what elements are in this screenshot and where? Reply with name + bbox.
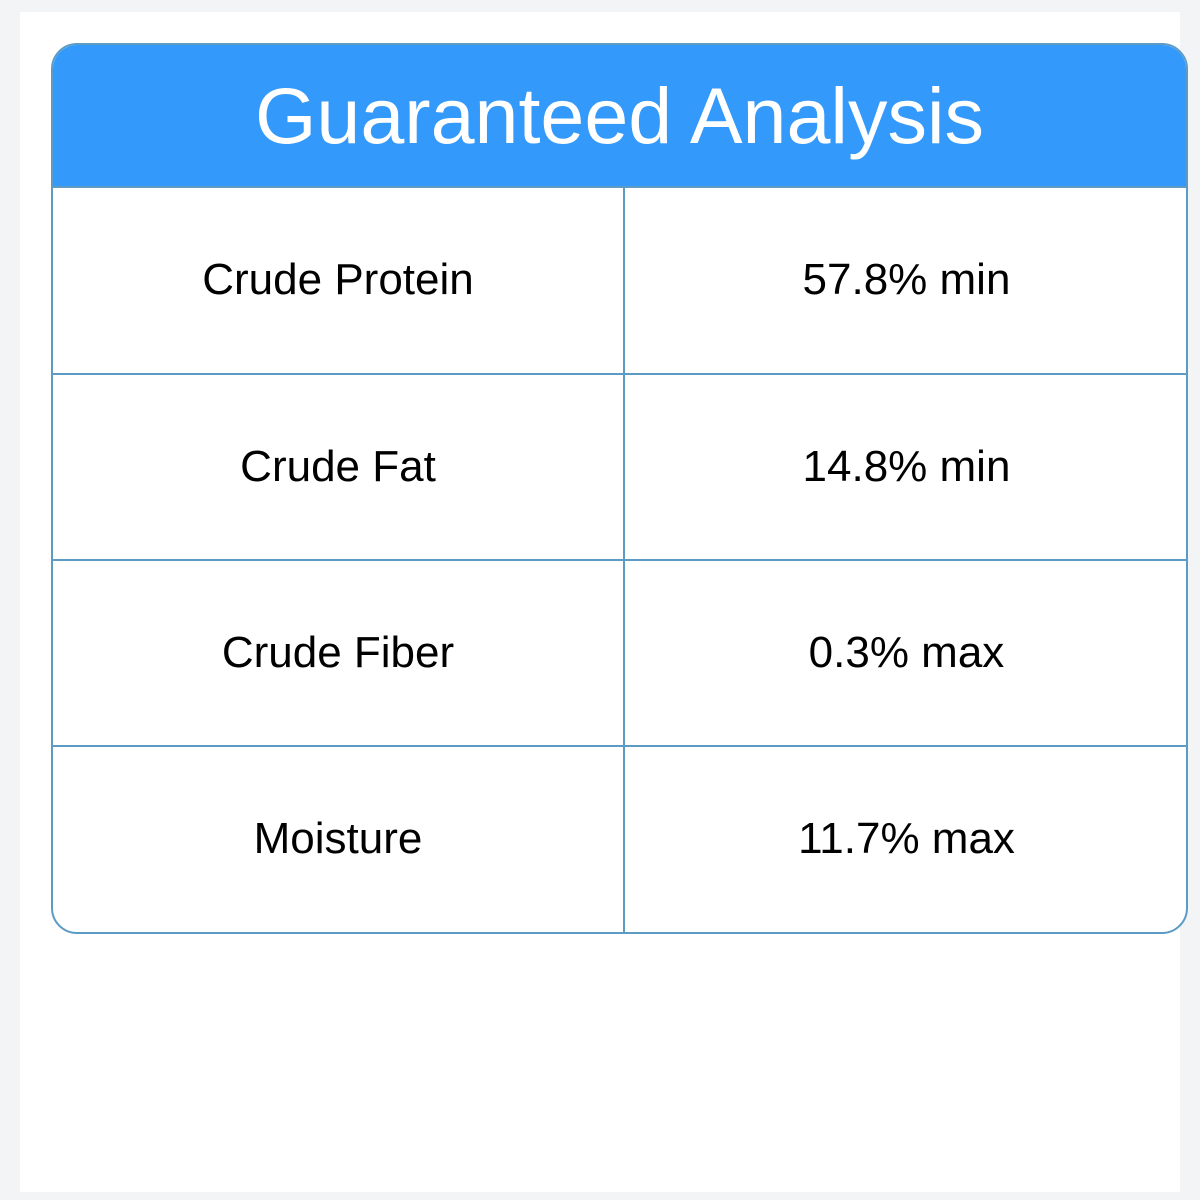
- table-row: Crude Fiber 0.3% max: [53, 560, 1188, 746]
- nutrient-amount-cell: 14.8% min: [624, 374, 1188, 560]
- guaranteed-analysis-table: Crude Protein 57.8% min Crude Fat 14.8% …: [53, 188, 1188, 932]
- nutrient-name-cell: Crude Fat: [53, 374, 624, 560]
- page-title: Guaranteed Analysis: [255, 76, 984, 155]
- table-row: Crude Fat 14.8% min: [53, 374, 1188, 560]
- table-row: Moisture 11.7% max: [53, 746, 1188, 932]
- nutrient-amount-cell: 11.7% max: [624, 746, 1188, 932]
- nutrient-amount-cell: 0.3% max: [624, 560, 1188, 746]
- table-row: Crude Protein 57.8% min: [53, 188, 1188, 374]
- nutrient-amount-cell: 57.8% min: [624, 188, 1188, 374]
- nutrient-name-cell: Crude Protein: [53, 188, 624, 374]
- page-surface: Guaranteed Analysis Crude Protein 57.8% …: [20, 12, 1180, 1192]
- nutrient-name-cell: Crude Fiber: [53, 560, 624, 746]
- nutrient-name-cell: Moisture: [53, 746, 624, 932]
- guaranteed-analysis-card: Guaranteed Analysis Crude Protein 57.8% …: [51, 43, 1188, 934]
- card-header: Guaranteed Analysis: [53, 45, 1186, 188]
